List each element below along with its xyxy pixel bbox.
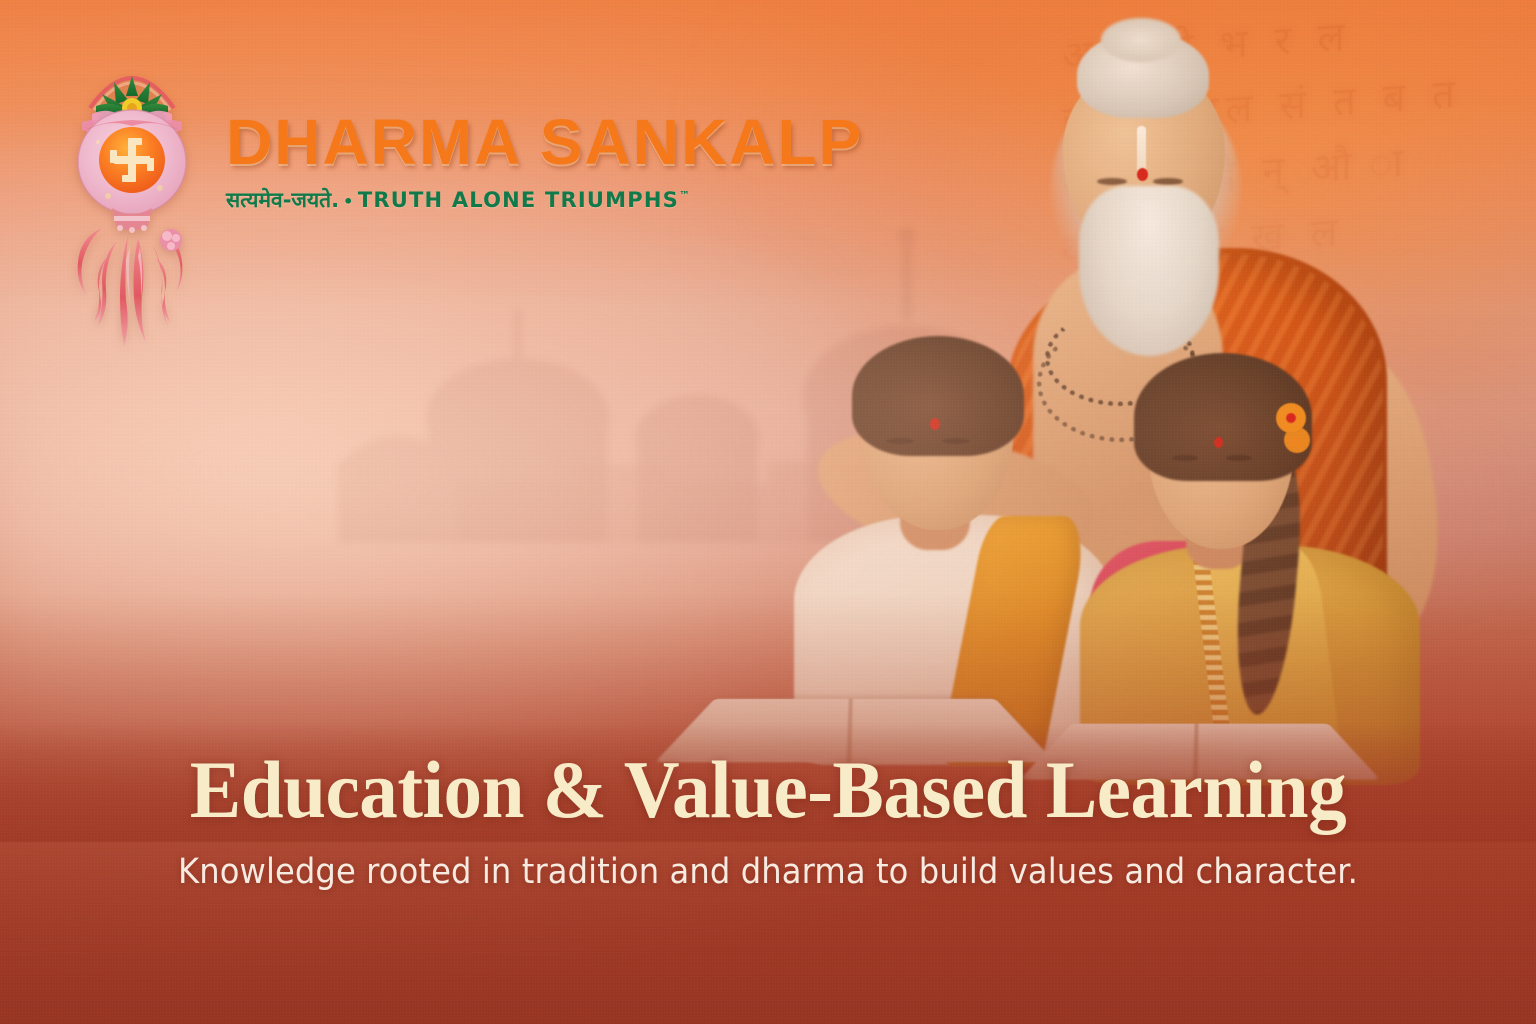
tagline-separator-dot: •: [343, 192, 354, 211]
page-subtitle: Knowledge rooted in tradition and dharma…: [61, 852, 1474, 892]
sage-eye-left: [1097, 178, 1127, 185]
trademark-symbol: ™: [679, 189, 690, 202]
sage-bindi: [1137, 168, 1148, 181]
boy-eye-right: [942, 438, 970, 444]
girl-hair-flower: [1276, 403, 1306, 433]
brand-wordmark: DHARMA SANKALP: [226, 110, 863, 174]
headline-block: Education & Value-Based Learning Knowled…: [0, 748, 1536, 892]
brand-text-block: DHARMA SANKALP सत्यमेव-जयते.•TRUTH ALONE…: [226, 50, 863, 214]
girl-eye-right: [1226, 455, 1252, 461]
sage-tilak-mark: [1137, 126, 1146, 174]
brand-tagline: सत्यमेव-जयते.•TRUTH ALONE TRIUMPHS™: [226, 186, 863, 214]
sage-hair-bun: [1077, 32, 1209, 118]
kalash-lotus-swastika-emblem-icon[interactable]: [68, 50, 196, 350]
girl-bindi: [1214, 437, 1223, 448]
boy-bindi: [930, 418, 940, 430]
hero-banner: अ व ह्ले भ र ल ह् जा. उल सं त ब त र स ा …: [0, 0, 1536, 1024]
page-title: Education & Value-Based Learning: [46, 748, 1490, 832]
sage-eye-right: [1153, 178, 1183, 185]
girl-eye-left: [1172, 455, 1198, 461]
brand-lockup[interactable]: DHARMA SANKALP सत्यमेव-जयते.•TRUTH ALONE…: [68, 50, 863, 350]
boy-hair: [852, 336, 1024, 456]
boy-eye-left: [886, 438, 914, 444]
tagline-devanagari: सत्यमेव-जयते.: [226, 188, 339, 212]
tagline-latin: TRUTH ALONE TRIUMPHS: [358, 188, 679, 212]
